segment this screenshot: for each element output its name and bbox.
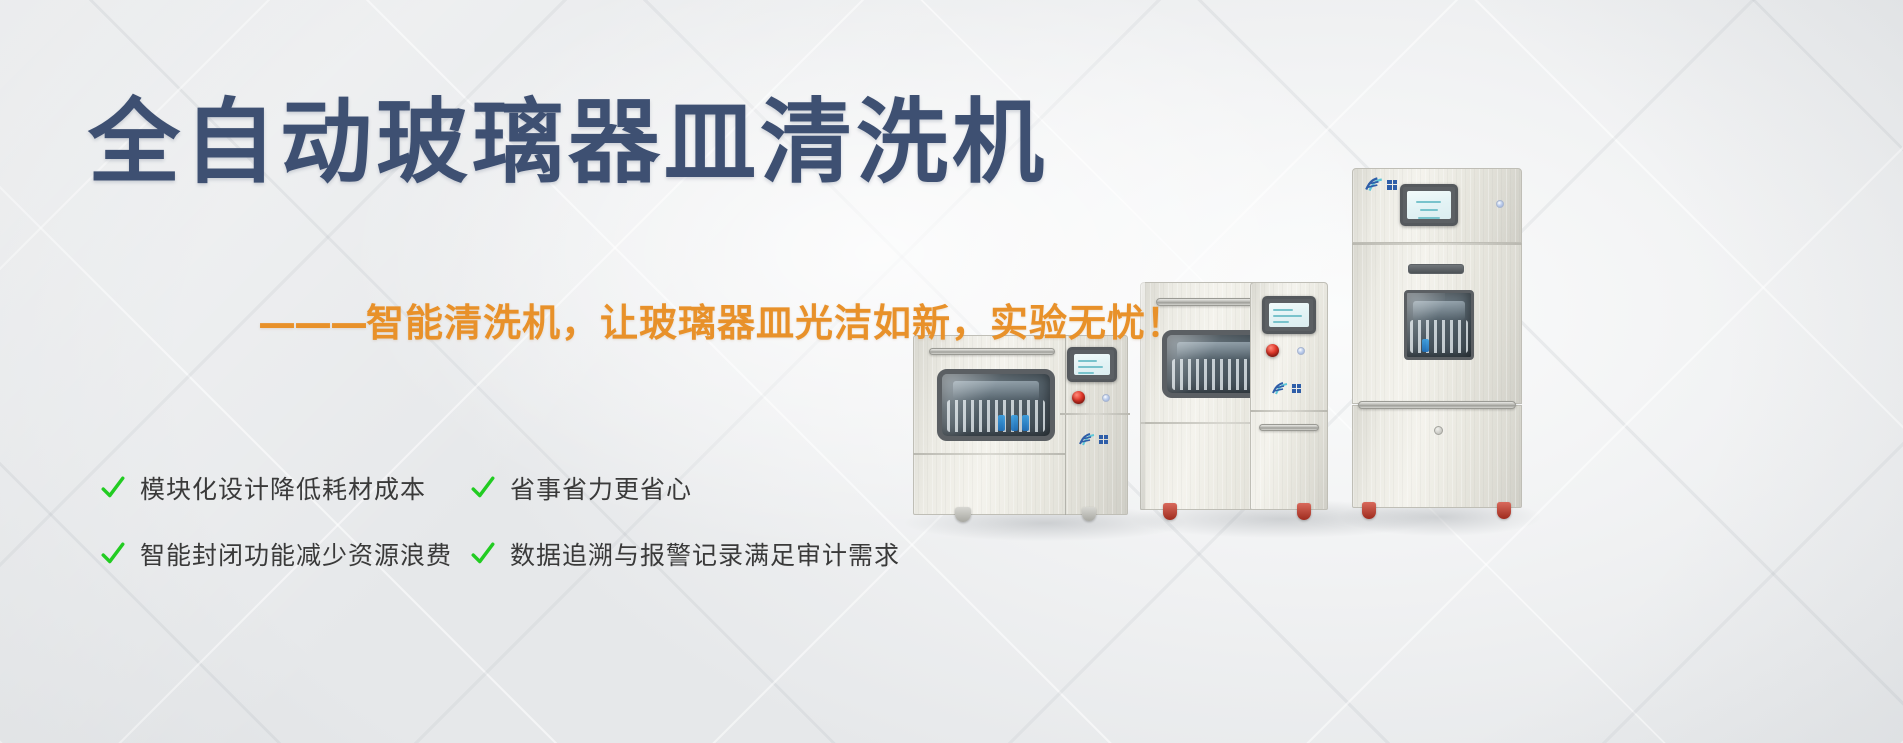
feature-item: 数据追溯与报警记录满足审计需求 — [470, 536, 900, 572]
caster-wheel-red — [1362, 502, 1376, 519]
panel-seam-medium — [1250, 410, 1328, 412]
brand-mark-icon — [1271, 382, 1289, 395]
feature-list: 模块化设计降低耗材成本 省事省力更省心 智能封闭功能减少资源浪费 数据追溯与报警… — [100, 470, 900, 572]
subtitle-dash: ——— — [258, 301, 366, 345]
check-icon — [470, 541, 496, 567]
lower-drawer-handle-medium — [1259, 424, 1319, 431]
power-indicator-tall[interactable] — [1496, 200, 1504, 208]
caster-wheel-red — [1297, 503, 1311, 520]
door-lock-knob-tall[interactable] — [1434, 426, 1443, 435]
feature-label: 数据追溯与报警记录满足审计需求 — [510, 536, 900, 572]
touchscreen-tall[interactable] — [1400, 184, 1458, 226]
product-washer-tall — [1352, 168, 1522, 508]
feature-label: 模块化设计降低耗材成本 — [140, 470, 426, 506]
brand-dots-icon — [1292, 384, 1301, 393]
check-icon — [100, 475, 126, 501]
caster-wheel-red — [1163, 503, 1177, 520]
feature-item: 模块化设计降低耗材成本 — [100, 470, 470, 506]
check-icon — [100, 541, 126, 567]
feature-item: 省事省力更省心 — [470, 470, 900, 506]
product-banner: 全自动玻璃器皿清洗机 ———智能清洗机，让玻璃器皿光洁如新，实验无忧！ 模块化设… — [0, 0, 1903, 743]
feature-label: 省事省力更省心 — [510, 470, 692, 506]
lower-door-handle-tall — [1358, 401, 1516, 409]
viewing-window-tall — [1404, 290, 1474, 360]
power-indicator-medium[interactable] — [1297, 347, 1305, 355]
brand-logo-tall — [1364, 177, 1397, 192]
feature-label: 智能封闭功能减少资源浪费 — [140, 536, 452, 572]
emergency-stop-button-medium[interactable] — [1266, 344, 1279, 357]
window-glare — [1407, 293, 1445, 357]
touchscreen-medium[interactable] — [1262, 296, 1316, 334]
check-icon — [470, 475, 496, 501]
control-panel-medium — [1250, 282, 1328, 510]
feature-item: 智能封闭功能减少资源浪费 — [100, 536, 470, 572]
page-title: 全自动玻璃器皿清洗机 — [88, 94, 1048, 192]
banner-copy: 全自动玻璃器皿清洗机 ———智能清洗机，让玻璃器皿光洁如新，实验无忧！ 模块化设… — [0, 0, 1100, 743]
banner-subtitle: ———智能清洗机，让玻璃器皿光洁如新，实验无忧！ — [258, 292, 1185, 347]
caster-wheel-red — [1497, 502, 1511, 519]
power-indicator-small[interactable] — [1102, 394, 1110, 402]
brand-mark-icon — [1364, 177, 1384, 192]
brand-dots-icon — [1387, 180, 1397, 190]
cabinet-seam-upper — [1352, 243, 1522, 245]
subtitle-text: 智能清洗机，让玻璃器皿光洁如新，实验无忧！ — [366, 301, 1185, 345]
vent-slot-tall — [1408, 264, 1464, 274]
brand-logo-medium — [1271, 382, 1301, 395]
brand-dots-icon — [1099, 435, 1108, 444]
